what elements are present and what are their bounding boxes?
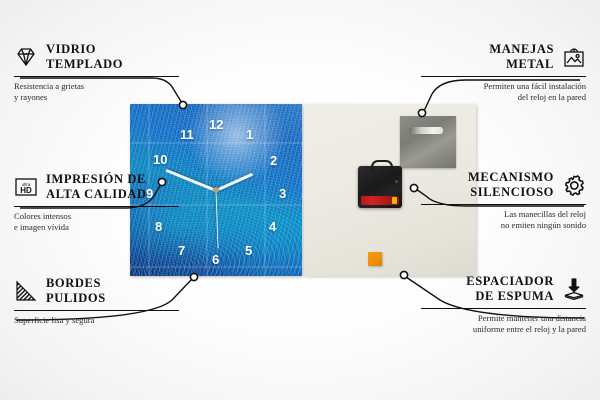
ultra-hd-badge-icon: ultra HD <box>14 175 38 199</box>
feature-rule <box>14 206 179 207</box>
feature-mecanismo-silencioso: MECANISMO SILENCIOSO Las manecillas del … <box>386 170 586 232</box>
node-manejas <box>418 109 425 116</box>
feature-title-line2: DE ESPUMA <box>466 289 554 304</box>
feature-title-line2: METAL <box>489 57 554 72</box>
feature-impresion-alta-calidad: ultra HD IMPRESIÓN DE ALTA CALIDAD Color… <box>14 172 214 234</box>
feature-desc-line1: Colores intensos <box>14 211 214 223</box>
feature-desc-line2: y rayones <box>14 92 214 104</box>
feature-rule <box>14 310 179 311</box>
feature-title-line2: SILENCIOSO <box>468 185 554 200</box>
feature-rule <box>421 308 586 309</box>
feature-rule <box>421 204 586 205</box>
polished-edge-icon <box>14 279 38 303</box>
feature-desc-line1: Superficie lisa y segura <box>14 315 214 327</box>
feature-desc-line2: no emiten ningún sonido <box>386 220 586 232</box>
feature-manejas-metal: MANEJAS METAL Permiten una fácil instala… <box>386 42 586 104</box>
feature-desc-line2: del reloj en la pared <box>386 92 586 104</box>
feature-title-line1: IMPRESIÓN DE <box>46 172 147 187</box>
feature-title-line2: TEMPLADO <box>46 57 123 72</box>
feature-rule <box>421 76 586 77</box>
feature-vidrio-templado: VIDRIO TEMPLADO Resistencia a grietas y … <box>14 42 214 104</box>
feature-title-line2: PULIDOS <box>46 291 106 306</box>
feature-title-line1: MECANISMO <box>468 170 554 185</box>
gear-icon <box>562 173 586 197</box>
feature-title-line2: ALTA CALIDAD <box>46 187 147 202</box>
arrow-down-stack-icon <box>562 277 586 301</box>
feature-desc-line2: e imagen vívida <box>14 222 214 234</box>
wall-hanging-frame-icon <box>562 45 586 69</box>
feature-desc-line1: Las manecillas del reloj <box>386 209 586 221</box>
feature-desc-line2: uniforme entre el reloj y la pared <box>386 324 586 336</box>
feature-desc-line1: Permite mantener una distancia <box>386 313 586 325</box>
svg-text:HD: HD <box>20 186 32 195</box>
feature-rule <box>14 76 179 77</box>
feature-title-line1: MANEJAS <box>489 42 554 57</box>
feature-desc-line1: Permiten una fácil instalación <box>386 81 586 93</box>
diamond-icon <box>14 45 38 69</box>
feature-title-line1: BORDES <box>46 276 106 291</box>
feature-title-line1: VIDRIO <box>46 42 123 57</box>
feature-title-line1: ESPACIADOR <box>466 274 554 289</box>
infographic-canvas: 12 1 2 3 4 5 6 7 8 9 10 11 <box>0 0 600 400</box>
feature-desc-line1: Resistencia a grietas <box>14 81 214 93</box>
feature-bordes-pulidos: BORDES PULIDOS Superficie lisa y segura <box>14 276 214 326</box>
feature-espaciador-espuma: ESPACIADOR DE ESPUMA Permite mantener un… <box>386 274 586 336</box>
